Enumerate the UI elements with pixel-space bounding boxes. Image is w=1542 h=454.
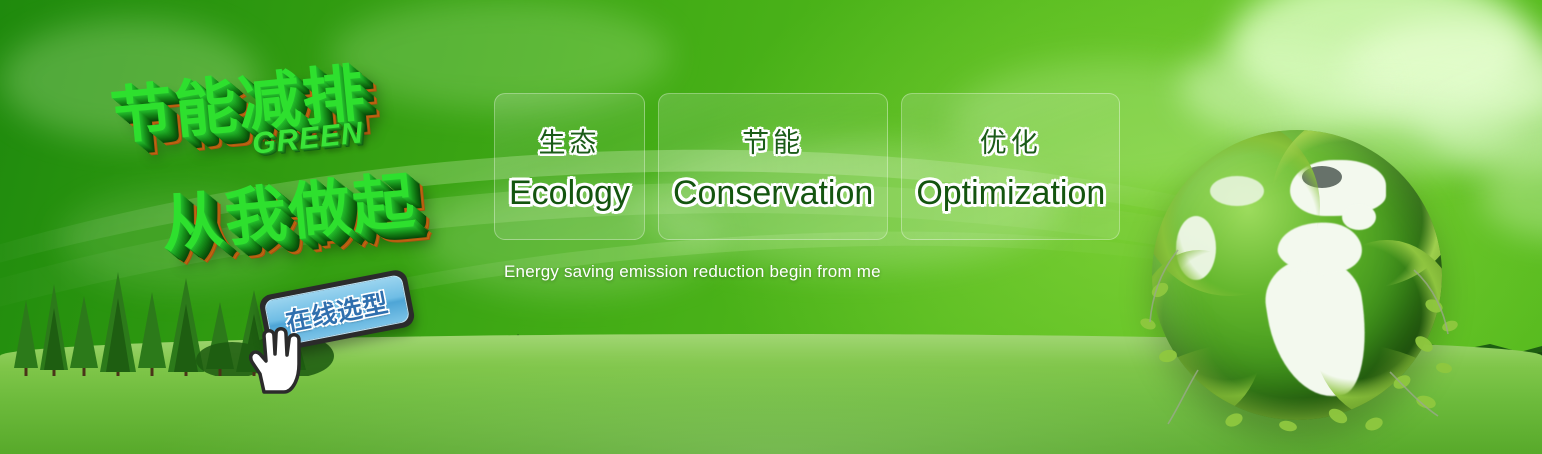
card-label-cn: 生态 [538,121,600,160]
eco-banner: 节能减排 GREEN 从我做起 在线选型 生态 Ecology 节能 Conse… [0,0,1542,454]
feature-cards: 生态 Ecology 节能 Conservation 优化 Optimizati… [494,93,1120,240]
card-label-en: Conservation [673,174,873,213]
card-label-cn: 优化 [980,121,1042,160]
feature-card-ecology[interactable]: 生态 Ecology [494,93,645,240]
feature-card-conservation[interactable]: 节能 Conservation [658,93,888,240]
card-label-en: Optimization [916,174,1105,213]
hand-pointer-icon [242,322,318,396]
feature-card-optimization[interactable]: 优化 Optimization [901,93,1120,240]
leafy-globe-icon [1138,120,1468,450]
card-label-cn: 节能 [742,121,804,160]
banner-tagline: Energy saving emission reduction begin f… [504,262,881,282]
scattered-leaves-icon [1138,120,1468,450]
headline-3d: 节能减排 GREEN 从我做起 [104,44,484,274]
headline-line-2: 从我做起 [156,150,419,264]
card-label-en: Ecology [509,174,630,213]
